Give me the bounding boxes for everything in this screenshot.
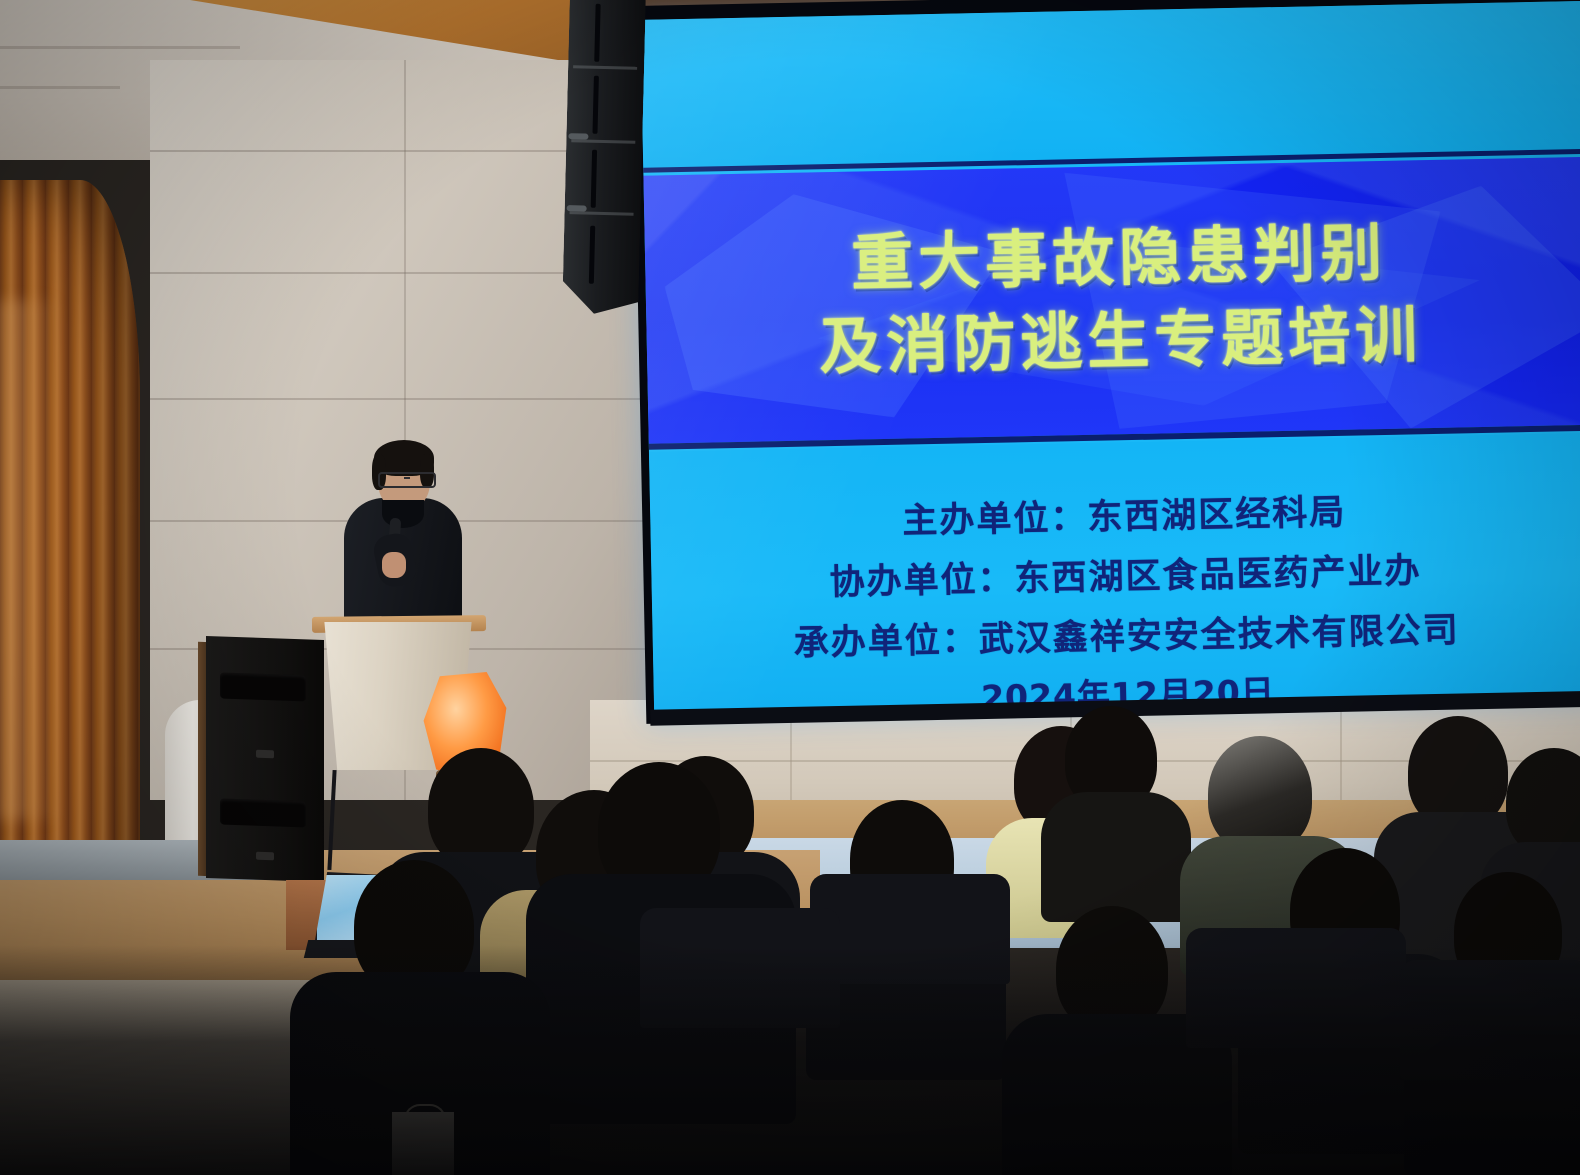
speaker-segment-seam — [571, 139, 635, 144]
audience-chair — [810, 874, 1010, 984]
slide-subtitle-block: 主办单位：东西湖区经科局 协办单位：东西湖区食品医药产业办 承办单位：武汉鑫祥安… — [650, 479, 1580, 712]
screen-bottom-cyan-band: 主办单位：东西湖区经科局 协办单位：东西湖区食品医药产业办 承办单位：武汉鑫祥安… — [649, 433, 1580, 712]
monitor-logo — [256, 750, 274, 759]
speaker-horn-slot — [594, 4, 600, 62]
speaker-horn-slot — [591, 150, 597, 208]
slide-title-block: 重大事故隐患判别 及消防逃生专题培训 — [643, 157, 1580, 444]
monitor-horn — [220, 798, 306, 827]
speaker-rigging-tab — [568, 133, 588, 139]
audience-torso — [1041, 792, 1191, 922]
audience-head — [1506, 748, 1580, 856]
slide-title-line-2: 及消防逃生专题培训 — [819, 302, 1423, 381]
audience-chair — [1400, 960, 1580, 1080]
ceiling-seam — [0, 86, 120, 89]
wall-seam — [150, 398, 670, 400]
speaker-rigging-tab — [567, 205, 587, 211]
presenter-hand — [382, 552, 406, 578]
screen-title-band: 重大事故隐患判别 及消防逃生专题培训 — [643, 157, 1580, 444]
speaker-horn-slot — [592, 76, 598, 134]
shopping-bag — [392, 1112, 454, 1175]
monitor-logo — [256, 852, 274, 861]
audience-member — [1022, 906, 1202, 1166]
presenter-collar — [382, 500, 424, 528]
wood-slat-highlight — [0, 300, 60, 820]
eyeglasses-icon — [378, 472, 436, 488]
line-array-speaker — [562, 0, 646, 315]
floor-monitor-speaker — [206, 636, 324, 882]
speaker-segment-seam — [570, 211, 634, 216]
slide-title-line-1: 重大事故隐患判别 — [851, 220, 1388, 298]
audience-head-gray-hair — [1208, 736, 1312, 852]
led-screen: 重大事故隐患判别 及消防逃生专题培训 主办单位：东西湖区经科局 协办单位：东西湖… — [632, 0, 1580, 724]
ceiling-seam — [0, 46, 240, 49]
photo-scene: 重大事故隐患判别 及消防逃生专题培训 主办单位：东西湖区经科局 协办单位：东西湖… — [0, 0, 1580, 1175]
slide-organizer-line: 主办单位：东西湖区经科局 — [902, 484, 1347, 544]
audience-chair — [1186, 928, 1406, 1048]
screen-top-cyan-band — [640, 1, 1580, 168]
led-screen-surface: 重大事故隐患判别 及消防逃生专题培训 主办单位：东西湖区经科局 协办单位：东西湖… — [640, 1, 1580, 712]
audience-member — [1055, 706, 1195, 906]
presenter — [336, 440, 466, 640]
slide-host-line: 承办单位：武汉鑫祥安安全技术有限公司 — [793, 602, 1460, 666]
speaker-segment-seam — [573, 65, 637, 70]
speaker-horn-slot — [589, 226, 595, 284]
audience-chair — [640, 908, 840, 1028]
slide-co-organizer-line: 协办单位：东西湖区食品医药产业办 — [829, 542, 1422, 605]
monitor-horn — [220, 672, 306, 701]
